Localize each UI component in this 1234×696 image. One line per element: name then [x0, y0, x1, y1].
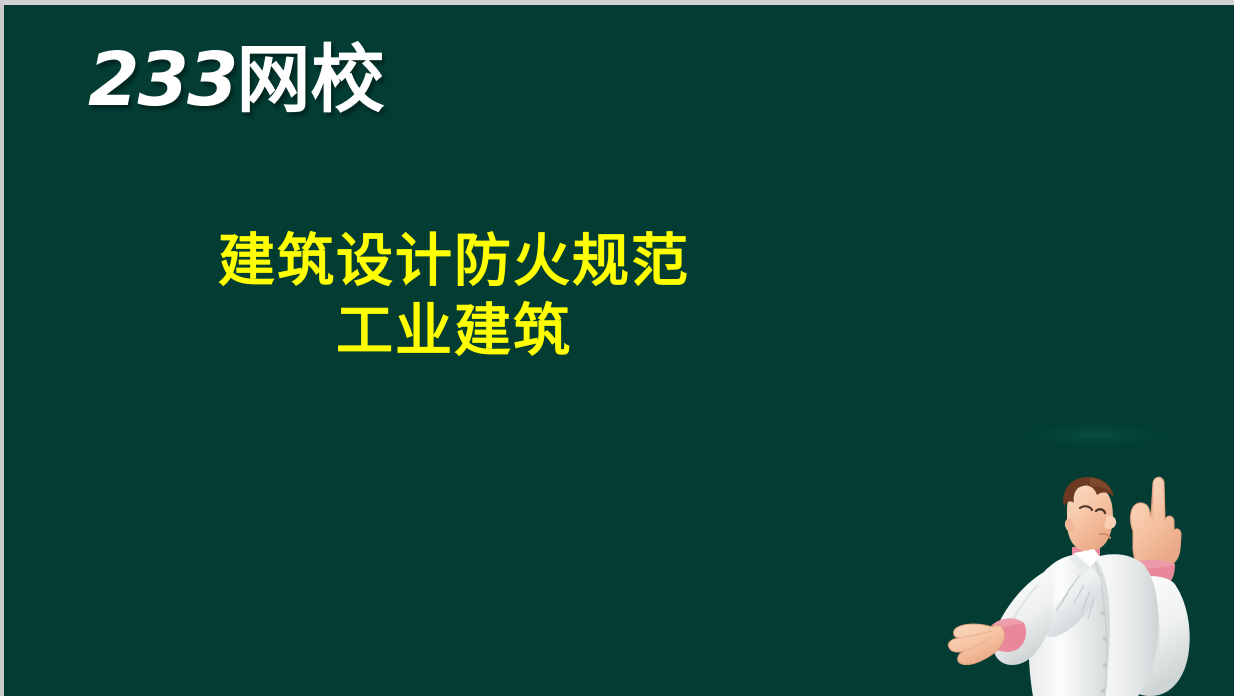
illustration-halo	[1000, 419, 1192, 451]
brand-logo-chinese: 网校	[236, 37, 384, 123]
pointing-hand-icon	[1131, 477, 1181, 569]
title-line-primary: 建筑设计防火规范	[4, 227, 904, 297]
brand-logo-number: 233	[88, 37, 236, 123]
brand-logo: 233网校	[88, 43, 384, 117]
slide-canvas: 233网校 建筑设计防火规范 工业建筑	[0, 0, 1234, 696]
open-hand-icon	[948, 624, 1004, 665]
title-line-secondary: 工业建筑	[4, 297, 904, 367]
cartoon-man-pointing-up-illustration	[904, 335, 1234, 696]
slide-title: 建筑设计防火规范 工业建筑	[4, 227, 904, 366]
